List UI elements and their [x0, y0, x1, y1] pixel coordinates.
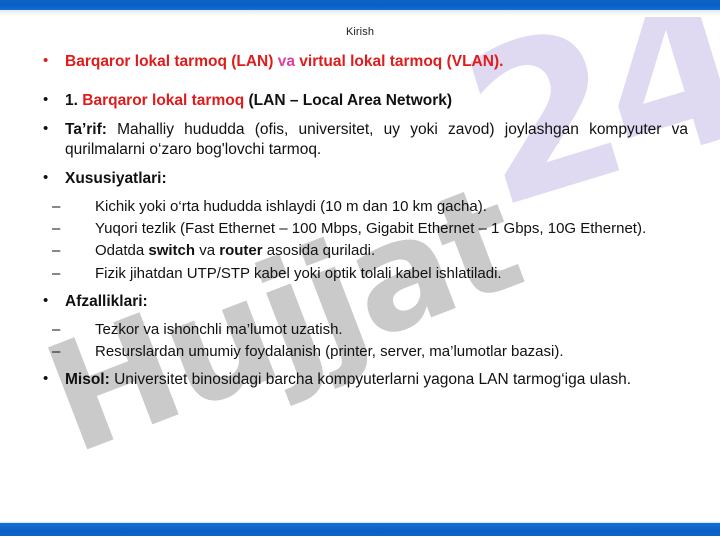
top-accent-bar — [0, 0, 720, 10]
afz-item-0: Tezkor va ishonchli ma’lumot uzatish. — [95, 321, 343, 338]
heading-rest-text: (LAN – Local Area Network) — [249, 92, 453, 109]
misol-text: Universitet binosidagi barcha kompyuterl… — [114, 371, 631, 388]
list-item: Kichik yoki o‘rta hududda ishlaydi (10 m… — [32, 197, 688, 217]
slide-canvas: 24 Hujjat Kirish Barqaror lokal tarmoq (… — [0, 0, 720, 540]
bullet-afzalliklari-label: Afzalliklari: — [32, 292, 688, 312]
xus-item-2-post: asosida quriladi. — [263, 242, 376, 259]
xus-item-0-pre: Kichik yoki o‘rta hududda ishlaydi (10 m… — [95, 198, 487, 215]
xus-item-2-bold1: switch — [148, 242, 195, 259]
spacer — [32, 74, 688, 91]
bullet-heading-lan: 1. Barqaror lokal tarmoq (LAN – Local Ar… — [32, 91, 688, 111]
intro-part2: va — [278, 53, 295, 70]
bullet-tarif: Ta’rif: Mahalliy hududda (ofis, universi… — [32, 120, 688, 161]
heading-number: 1. — [65, 92, 78, 109]
intro-part3: virtual lokal tarmoq (VLAN). — [299, 53, 503, 70]
slide-body: Barqaror lokal tarmoq (LAN) va virtual l… — [32, 52, 688, 393]
afzalliklari-label: Afzalliklari: — [65, 293, 148, 310]
top-accent-fade — [0, 10, 720, 17]
list-item: Resurslardan umumiy foydalanish (printer… — [32, 342, 688, 362]
afz-item-1: Resurslardan umumiy foydalanish (printer… — [95, 343, 564, 360]
bottom-accent-bar — [0, 523, 720, 536]
list-item: Fizik jihatdan UTP/STP kabel yoki optik … — [32, 264, 688, 284]
bullet-xususiyatlari-label: Xususiyatlari: — [32, 169, 688, 189]
list-item: Odatda switch va router asosida quriladi… — [32, 241, 688, 261]
bullet-misol: Misol: Universitet binosidagi barcha kom… — [32, 370, 688, 390]
slide-content: Kirish Barqaror lokal tarmoq (LAN) va vi… — [0, 0, 720, 540]
xususiyatlari-label: Xususiyatlari: — [65, 170, 167, 187]
tarif-label: Ta’rif: — [65, 121, 107, 138]
list-item: Tezkor va ishonchli ma’lumot uzatish. — [32, 320, 688, 340]
xus-item-3-pre: Fizik jihatdan UTP/STP kabel yoki optik … — [95, 265, 502, 282]
list-item: Yuqori tezlik (Fast Ethernet – 100 Mbps,… — [32, 219, 688, 239]
xus-item-2-mid: va — [195, 242, 219, 259]
tarif-text: Mahalliy hududda (ofis, universitet, uy … — [65, 121, 688, 158]
heading-red-text: Barqaror lokal tarmoq — [82, 92, 244, 109]
xus-item-2-pre: Odatda — [95, 242, 148, 259]
intro-part1: Barqaror lokal tarmoq (LAN) — [65, 53, 273, 70]
xus-item-2-bold2: router — [219, 242, 262, 259]
bullet-intro: Barqaror lokal tarmoq (LAN) va virtual l… — [32, 52, 688, 72]
xus-item-1-pre: Yuqori tezlik (Fast Ethernet – 100 Mbps,… — [95, 220, 646, 237]
misol-label: Misol: — [65, 371, 110, 388]
bottom-margin — [0, 536, 720, 540]
slide-title: Kirish — [0, 26, 720, 38]
